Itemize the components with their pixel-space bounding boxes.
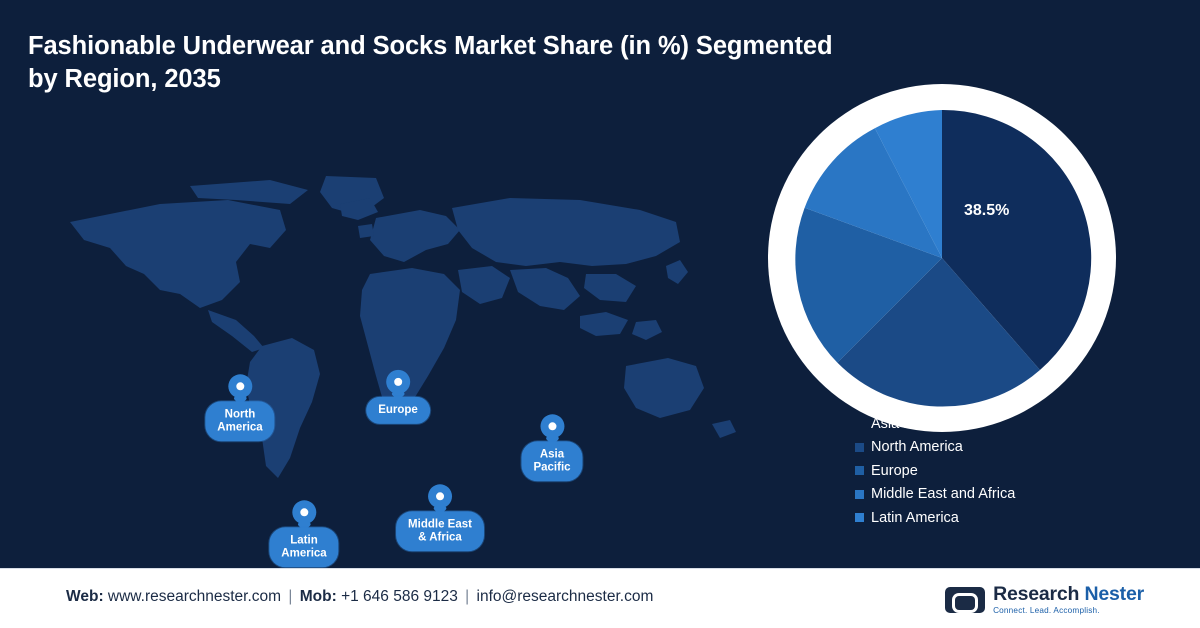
logo-wordmark: Research Nester (993, 584, 1144, 604)
page-title: Fashionable Underwear and Socks Market S… (28, 30, 858, 95)
map-pin-icon (228, 374, 252, 398)
logo-word-nester: Nester (1085, 583, 1145, 605)
pie-slices (792, 108, 1092, 408)
map-pin-latin-america[interactable]: Latin America (269, 500, 338, 567)
map-pin-icon (292, 500, 316, 524)
legend-label: North America (871, 439, 963, 455)
legend-swatch (855, 513, 864, 522)
logo-mark-icon (945, 587, 985, 613)
legend-label: Asia Pacific (871, 416, 946, 432)
legend-swatch (855, 490, 864, 499)
map-pin-asia-pacific[interactable]: Asia Pacific (521, 414, 582, 481)
legend-item-middle-east-africa[interactable]: Middle East and Africa (855, 483, 1015, 507)
map-pin-europe[interactable]: Europe (366, 370, 430, 424)
footer-web-value[interactable]: www.researchnester.com (108, 588, 281, 605)
legend-item-latin-america[interactable]: Latin America (855, 506, 1015, 530)
map-pin-icon (540, 414, 564, 438)
map-pin-north-america[interactable]: North America (205, 374, 274, 441)
world-map-svg (40, 170, 760, 500)
legend-swatch (855, 466, 864, 475)
map-pin-icon (386, 370, 410, 394)
legend-item-north-america[interactable]: North America (855, 436, 1015, 460)
logo-word-research: Research (993, 583, 1084, 605)
pie-chart: 38.5% (768, 84, 1116, 432)
research-nester-logo[interactable]: Research Nester Connect. Lead. Accomplis… (945, 581, 1144, 619)
footer-separator-2: | (462, 588, 472, 605)
legend-item-asia-pacific[interactable]: Asia Pacific (855, 412, 1015, 436)
footer-separator-1: | (285, 588, 295, 605)
map-pin-label: Asia Pacific (521, 441, 582, 481)
legend-label: Middle East and Africa (871, 486, 1015, 502)
footer-mob-label: Mob: (300, 588, 337, 605)
map-pin-label: Latin America (269, 527, 338, 567)
logo-text: Research Nester Connect. Lead. Accomplis… (993, 584, 1144, 615)
map-pin-icon (428, 484, 452, 508)
footer-web-label: Web: (66, 588, 104, 605)
footer-email[interactable]: info@researchnester.com (477, 588, 654, 605)
legend-item-europe[interactable]: Europe (855, 459, 1015, 483)
legend-label: Latin America (871, 510, 959, 526)
infographic-canvas: Fashionable Underwear and Socks Market S… (0, 0, 1200, 628)
map-pin-label: Middle East & Africa (396, 511, 484, 551)
map-pin-label: North America (205, 401, 274, 441)
map-pin-middle-east-africa[interactable]: Middle East & Africa (396, 484, 484, 551)
footer-bar: Web: www.researchnester.com | Mob: +1 64… (0, 568, 1200, 628)
legend-label: Europe (871, 463, 918, 479)
footer-contact-info: Web: www.researchnester.com | Mob: +1 64… (66, 588, 653, 606)
pie-slice-value-label: 38.5% (964, 202, 1009, 220)
legend-swatch (855, 419, 864, 428)
chart-legend: Asia Pacific North America Europe Middle… (855, 412, 1015, 530)
logo-tagline: Connect. Lead. Accomplish. (993, 607, 1144, 616)
legend-swatch (855, 443, 864, 452)
world-map: North America Europe Asia Pacific Latin … (40, 170, 760, 500)
footer-mob-value[interactable]: +1 646 586 9123 (341, 588, 458, 605)
map-pin-label: Europe (366, 397, 430, 424)
